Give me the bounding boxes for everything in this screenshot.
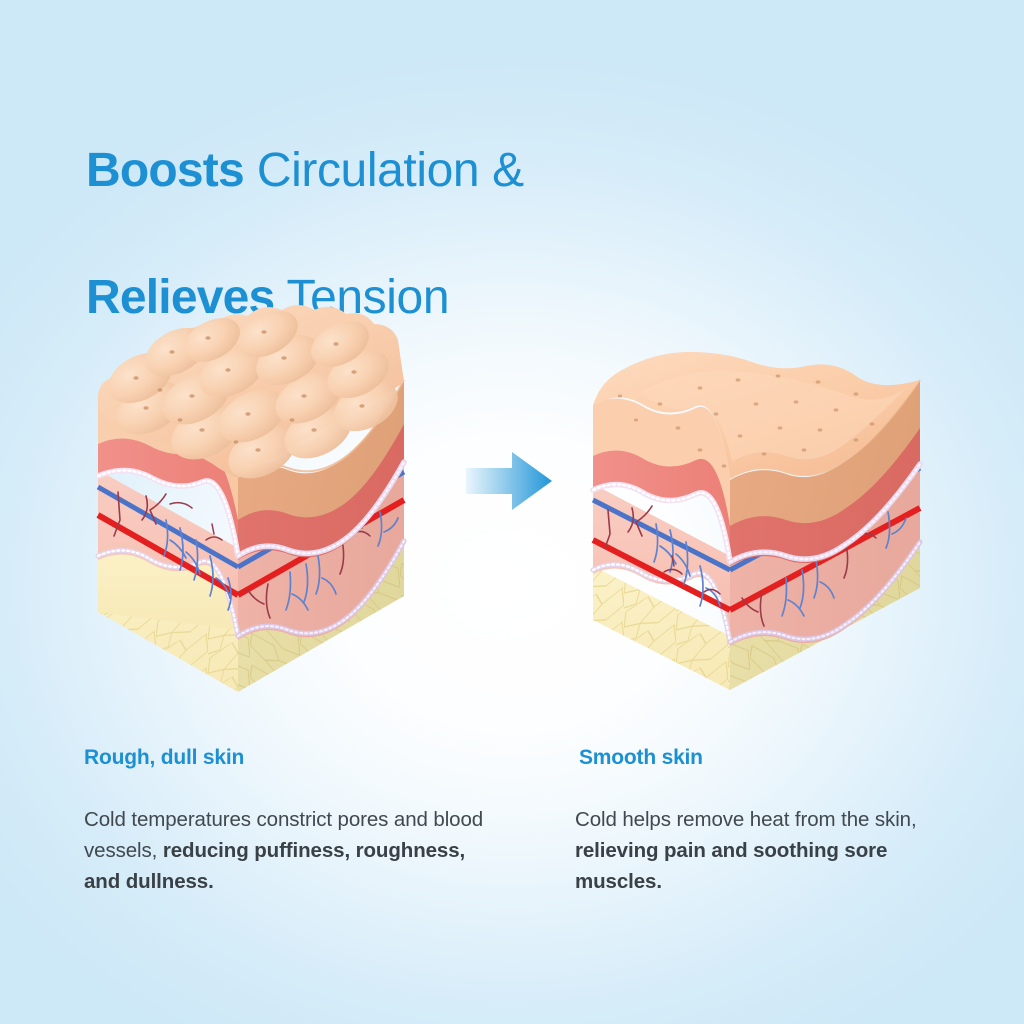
diagram-rough-skin [98, 301, 407, 692]
caption-title-rough: Rough, dull skin [84, 746, 484, 770]
right-arrow-icon [466, 452, 552, 510]
caption-title-smooth: Smooth skin [575, 746, 955, 770]
diagram-smooth-skin [593, 352, 920, 690]
caption-column-left: Rough, dull skin Cold temperatures const… [84, 746, 484, 897]
caption-body-smooth: Cold helps remove heat from the skin, re… [575, 804, 955, 897]
caption-column-right: Smooth skin Cold helps remove heat from … [575, 746, 955, 897]
caption-body-rough: Cold temperatures constrict pores and bl… [84, 804, 484, 897]
regular-text: Cold helps remove heat from the skin, [575, 808, 917, 831]
emphasis-text: relieving pain and soothing sore muscles… [575, 839, 887, 893]
